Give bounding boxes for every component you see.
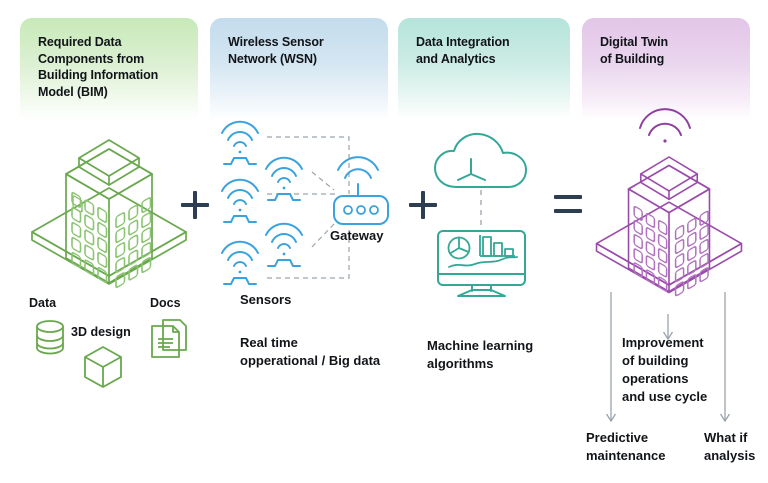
database-icon	[32, 318, 68, 358]
wsn-sensors-label: Sensors	[240, 292, 291, 307]
documents-icon	[150, 318, 190, 360]
bim-sub-label-data: Data	[29, 296, 56, 310]
bim-sub-label-docs: Docs	[150, 296, 181, 310]
panel-bim-title: Required Data Components from Building I…	[38, 34, 198, 100]
panel-wsn: Wireless Sensor Network (WSN)	[210, 18, 388, 120]
analytics-caption: Machine learning algorithms	[427, 337, 533, 373]
twin-building-illustration	[589, 142, 749, 300]
analytics-cloud-dashboard-illustration	[425, 128, 555, 288]
twin-outcome-improvement: Improvement of building operations and u…	[622, 334, 707, 406]
panel-analytics-title: Data Integration and Analytics	[416, 34, 570, 67]
twin-wifi-icon	[636, 110, 694, 144]
panel-analytics: Data Integration and Analytics	[398, 18, 570, 120]
bim-building-illustration	[24, 128, 194, 288]
bim-sub-label-3d-design: 3D design	[71, 325, 131, 339]
panel-bim: Required Data Components from Building I…	[20, 18, 198, 120]
wsn-gateway-label: Gateway	[330, 228, 383, 243]
panel-twin-title: Digital Twin of Building	[600, 34, 750, 67]
twin-outcome-predictive-maintenance: Predictive maintenance	[586, 429, 665, 465]
cube-icon	[82, 345, 124, 389]
panel-wsn-title: Wireless Sensor Network (WSN)	[228, 34, 388, 67]
wsn-caption: Real time opperational / Big data	[240, 334, 380, 370]
twin-outcome-what-if-analysis: What if analysis	[704, 429, 755, 465]
panel-twin: Digital Twin of Building	[582, 18, 750, 120]
wsn-sensor-network-illustration	[212, 112, 397, 302]
